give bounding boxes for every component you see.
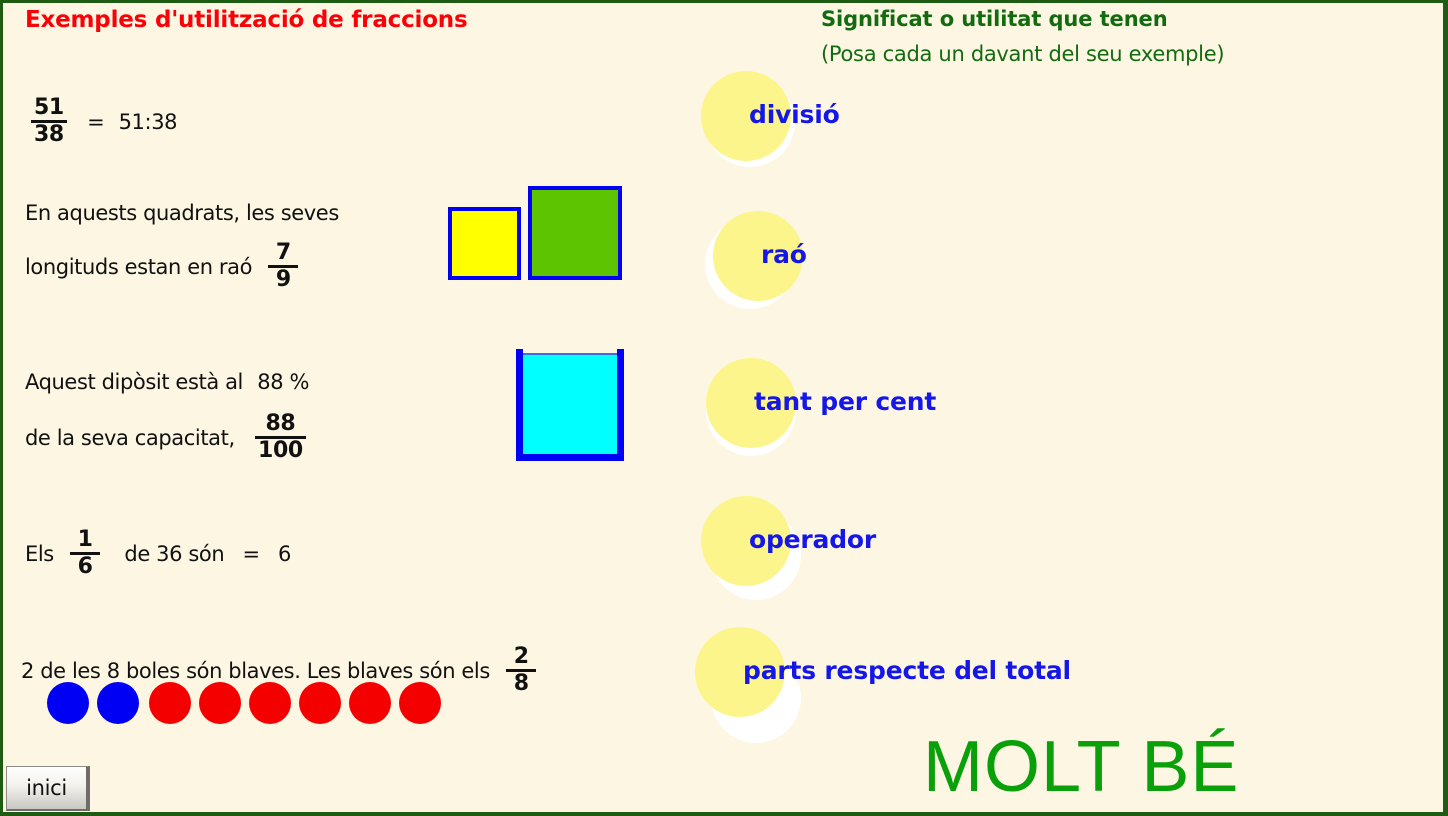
ball-red [149,682,191,724]
water-tank-diagram [516,349,624,461]
fraction-2-8: 2 8 [506,646,536,696]
right-column-title: Significat o utilitat que tenen [821,7,1168,31]
token-divisio[interactable]: divisió [701,71,1001,167]
example-percent-line2: de la seva capacitat, 88 100 [25,414,312,464]
fraction-1-6: 1 6 [70,529,100,579]
division-result: 51:38 [119,110,178,134]
operator-result: 6 [278,542,291,566]
example-operator: Els 1 6 de 36 són = 6 [25,530,291,580]
token-rao[interactable]: raó [713,211,1013,307]
equals-sign: = [87,110,104,134]
example-percent-line1: Aquest dipòsit està al 88 % [25,370,309,394]
token-label: raó [761,240,807,269]
left-column-title: Exemples d'utilització de fraccions [25,7,467,33]
ball-red [249,682,291,724]
square-green-shape [528,186,622,280]
token-label: parts respecte del total [743,656,1071,685]
ball-red [399,682,441,724]
example-ratio-line2: longituds estan en raó 7 9 [25,243,304,293]
square-yellow-shape [448,207,521,280]
token-label: operador [749,525,876,554]
fraction-51-38: 51 38 [31,97,67,147]
praise-message: MOLT BÉ [923,726,1239,808]
fraction-7-9: 7 9 [268,242,298,292]
right-column-subtitle: (Posa cada un davant del seu exemple) [821,42,1224,66]
token-label: divisió [749,100,840,129]
tank-walls [516,349,624,461]
ball-red [299,682,341,724]
token-tant-per-cent[interactable]: tant per cent [706,358,1046,454]
equals-sign: = [243,542,260,566]
example-division: 51 38 = 51:38 [25,98,177,148]
fraction-88-100: 88 100 [255,413,306,463]
home-button[interactable]: inici [6,766,90,811]
token-label: tant per cent [754,387,936,416]
activity-canvas: Exemples d'utilització de fraccions Sign… [0,0,1448,816]
example-ratio-line1: En aquests quadrats, les seves [25,201,339,225]
token-operador[interactable]: operador [701,496,1021,596]
ball-red [199,682,241,724]
percent-value: 88 % [257,370,309,394]
ball-red [349,682,391,724]
ball-blue [47,682,89,724]
ball-blue [97,682,139,724]
